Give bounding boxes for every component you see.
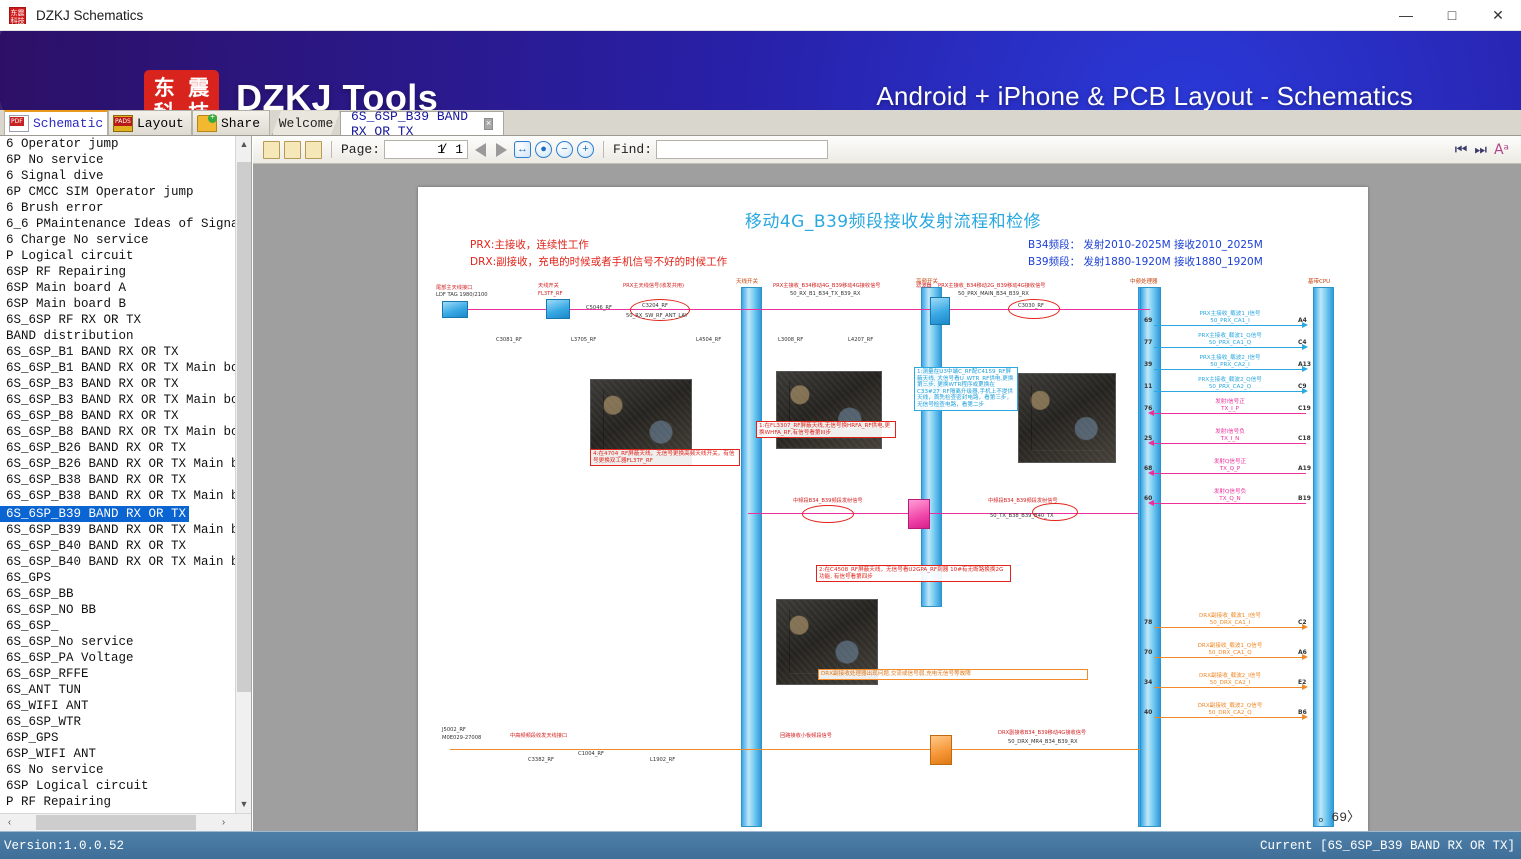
- bus-antenna-switch: [741, 287, 762, 827]
- board-photo-3: [1018, 373, 1116, 463]
- doc-tab-active-label: 6S_6SP_B39 BAND RX OR TX: [351, 109, 480, 139]
- scroll-right-icon[interactable]: ›: [215, 814, 232, 831]
- signal-net-name: TX_Q_N: [1154, 496, 1306, 502]
- comp-l4504: L4504_RF: [696, 337, 721, 343]
- sidebar-item[interactable]: 6S_ANT TUN: [0, 682, 236, 698]
- brand-name: DZKJ Tools: [236, 77, 438, 110]
- bus-label-antenna-switch: 天线开关: [736, 277, 758, 285]
- signal-line: [1154, 717, 1306, 718]
- scroll-down-icon[interactable]: ▼: [236, 796, 252, 812]
- signal-net-name: 50_DRX_CA2_Q: [1154, 710, 1306, 716]
- signal-pin-left: 70: [1144, 649, 1152, 656]
- dzkj-logo-icon: 东 震 科 技: [144, 70, 219, 110]
- signal-net-name: 50_DRX_CA2_I: [1154, 680, 1306, 686]
- signal-pin-left: 69: [1144, 317, 1152, 324]
- sidebar-item[interactable]: 6S_6SP_B8 BAND RX OR TX Main board: [0, 424, 236, 440]
- signal-line: [1154, 347, 1306, 348]
- comp-c3204: C3204_RF: [642, 303, 668, 309]
- comp-l3008: L3008_RF: [778, 337, 803, 343]
- title-bar: 东震科技 DZKJ Schematics — □ ✕: [0, 0, 1521, 31]
- signal-line: [1154, 473, 1306, 474]
- next-page-icon[interactable]: [496, 143, 507, 157]
- comp-c3081: C3081_RF: [496, 337, 522, 343]
- sidebar-item[interactable]: 6S_6SP_B8 BAND RX OR TX: [0, 408, 236, 424]
- bus-label-baseband: 基带CPU: [1308, 277, 1330, 285]
- flow-label-5: 滤波器: [916, 282, 932, 289]
- bus-label-wtr: 中频处理器: [1130, 277, 1158, 285]
- signal-pin-right: A19: [1298, 465, 1311, 472]
- scroll-left-icon[interactable]: ‹: [1, 814, 18, 831]
- signal-line: [1154, 391, 1306, 392]
- sidebar-vertical-scrollbar[interactable]: ▲ ▼: [235, 136, 251, 831]
- sidebar-item[interactable]: 6S_6SP_B26 BAND RX OR TX: [0, 440, 236, 456]
- signal-pin-right: C19: [1298, 405, 1311, 412]
- filter-chip: [930, 297, 950, 325]
- tab-layout[interactable]: Layout: [108, 110, 192, 135]
- comp-c3030: C3030_RF: [1018, 303, 1044, 309]
- sidebar-item[interactable]: 6S_6SP_PA Voltage: [0, 650, 236, 666]
- application-window: 东震科技 DZKJ Schematics — □ ✕ 东 震 科 技 DZKJ …: [0, 0, 1521, 859]
- logo-char-4: 技: [182, 101, 217, 110]
- prev-page-icon[interactable]: [475, 143, 486, 157]
- sidebar-item[interactable]: 6SP_GPS: [0, 730, 236, 746]
- bottom-label-3: DRX副接收B34_B39移动4G接收信号: [998, 729, 1086, 736]
- comp-c5046: C5046_RF: [586, 305, 612, 311]
- sidebar-item[interactable]: 6S_6SP_B38 BAND RX OR TX: [0, 472, 236, 488]
- signal-line: [1154, 627, 1306, 628]
- sheet-page-number: 。69〉: [1318, 806, 1360, 825]
- sidebar-item[interactable]: 6SP Main board A: [0, 280, 236, 296]
- zoom-in-icon[interactable]: +: [577, 141, 594, 158]
- signal-pin-right: A6: [1298, 649, 1307, 656]
- sidebar-item[interactable]: P Logical circuit: [0, 248, 236, 264]
- signal-description: PRX主接收_载波2_Q信号: [1154, 377, 1306, 383]
- signal-pin-left: 77: [1144, 339, 1152, 346]
- flow-label-2: PRX主天线信号(收发共用): [623, 282, 684, 289]
- signal-pin-right: A13: [1298, 361, 1311, 368]
- fit-width-icon[interactable]: ↔: [514, 141, 531, 158]
- sidebar-item[interactable]: 6S_6SP_WTR: [0, 714, 236, 730]
- bus-baseband: [1313, 287, 1334, 827]
- sidebar-scroll-thumb[interactable]: [237, 162, 251, 692]
- sidebar-item[interactable]: 6S_6SP_B40 BAND RX OR TX: [0, 538, 236, 554]
- extract-page-icon[interactable]: [284, 141, 301, 159]
- page-total-value: / 1: [440, 141, 463, 158]
- canvas-area[interactable]: 移动4G_B39频段接收发射流程和检修 PRX:主接收，连续性工作 DRX:副接…: [253, 164, 1521, 831]
- comp-l1902: L1902_RF: [650, 757, 675, 763]
- sidebar-item[interactable]: 6S_6SP_B3 BAND RX OR TX: [0, 376, 236, 392]
- schematic-list[interactable]: 6 Operator jump6P No service6 Signal div…: [0, 136, 236, 810]
- sidebar-item[interactable]: 6S_6SP_B26 BAND RX OR TX Main board: [0, 456, 236, 472]
- sidebar-item[interactable]: 6S_WIFI ANT: [0, 698, 236, 714]
- antenna-connector: [442, 301, 468, 318]
- signal-pin-left: 11: [1144, 383, 1152, 390]
- flow-label-0: 尾部主天线接口: [436, 284, 472, 291]
- brand-banner: 东 震 科 技 DZKJ Tools Android + iPhone & PC…: [0, 31, 1521, 110]
- signal-pin-right: A4: [1298, 317, 1307, 324]
- note-prx: PRX:主接收，连续性工作: [470, 237, 589, 252]
- signal-pin-right: C9: [1298, 383, 1307, 390]
- sidebar-item[interactable]: 6P CMCC SIM Operator jump: [0, 184, 236, 200]
- toolbar-divider-2: [603, 141, 604, 158]
- find-label: Find:: [613, 142, 652, 157]
- ellipse-tx-2: [1032, 503, 1078, 521]
- signal-line: [1154, 503, 1306, 504]
- sidebar-item[interactable]: 6P No service: [0, 152, 236, 168]
- sidebar-item[interactable]: 6SP RF Repairing: [0, 264, 236, 280]
- doc-tab-active[interactable]: 6S_6SP_B39 BAND RX OR TX ×: [340, 111, 504, 135]
- sidebar-item[interactable]: P RF Repairing: [0, 794, 236, 810]
- share-folder-icon: [197, 115, 217, 132]
- minimize-button[interactable]: —: [1383, 0, 1429, 31]
- find-input[interactable]: [656, 140, 828, 159]
- signal-line: [1154, 657, 1306, 658]
- maximize-button[interactable]: □: [1429, 0, 1475, 31]
- banner-tagline: Android + iPhone & PCB Layout - Schemati…: [876, 81, 1413, 110]
- signal-line: [1154, 687, 1306, 688]
- doc-tab-welcome[interactable]: Welcome: [272, 111, 340, 135]
- find-actions: ⏮ ⏭ Aᵃ: [1455, 142, 1521, 158]
- window-controls: — □ ✕: [1383, 0, 1521, 31]
- flow-label-4: PRX主接收_B34移动4G_B39移动4G接收信号: [773, 282, 881, 289]
- tab-bar: Schematic Layout Share Welcome 6S_6SP_B3…: [0, 110, 1521, 136]
- signal-pin-right: C4: [1298, 339, 1307, 346]
- signal-description: 发射I信号正: [1154, 399, 1306, 405]
- annotation-box-blue: 1:测量在U3中端C_RF配C4159_RF屏蔽天线, 大信号看U_WTR_RF…: [914, 367, 1018, 411]
- sidebar-horizontal-scrollbar[interactable]: ‹ ›: [0, 813, 252, 831]
- flow-sub-4: 50_RX_B1_B34_TX_B39_RX: [790, 291, 860, 297]
- signal-line: [1154, 443, 1306, 444]
- ellipse-tx: [802, 505, 854, 523]
- insert-page-icon[interactable]: [305, 141, 322, 159]
- doc-tab-welcome-label: Welcome: [279, 116, 334, 131]
- sidebar-item[interactable]: 6SP Main board B: [0, 296, 236, 312]
- sidebar-item[interactable]: 6 Signal dive: [0, 168, 236, 184]
- page-label: Page:: [341, 142, 380, 157]
- tab-layout-label: Layout: [137, 116, 184, 131]
- comp-l4207: L4207_RF: [848, 337, 873, 343]
- signal-net-name: TX_I_P: [1154, 406, 1306, 412]
- tab-share[interactable]: Share: [192, 110, 270, 135]
- bottom-sub-3: 50_DRX_MR4_B34_B39_RX: [1008, 739, 1078, 745]
- signal-pin-left: 40: [1144, 709, 1152, 716]
- toolbar-divider-1: [331, 141, 332, 158]
- flow-label-1: 天线开关: [538, 282, 559, 289]
- signal-line: [1154, 369, 1306, 370]
- signal-pin-left: 68: [1144, 465, 1152, 472]
- signal-description: PRX主接收_载波1_Q信号: [1154, 333, 1306, 339]
- signal-description: DRX副接收_载波2_Q信号: [1154, 703, 1306, 709]
- comp-l3705: L3705_RF: [571, 337, 596, 343]
- signal-description: PRX主接收_载波1_I信号: [1154, 311, 1306, 317]
- status-current-document: Current [6S_6SP_B39 BAND RX OR TX]: [1260, 839, 1515, 853]
- document-viewer: Page: 1 / 1 ↔ ● − + Find: ⏮ ⏭ Aᵃ 移动4: [253, 136, 1521, 831]
- sidebar-item[interactable]: 6S_6SP_B3 BAND RX OR TX Main board: [0, 392, 236, 408]
- find-prev-icon[interactable]: ⏮: [1455, 142, 1468, 158]
- signal-description: DRX副接收_载波1_Q信号: [1154, 643, 1306, 649]
- comp-c3382: C3382_RF: [528, 757, 554, 763]
- zoom-out-icon[interactable]: −: [556, 141, 573, 158]
- tab-schematic-label: Schematic: [33, 116, 103, 131]
- flow-sub-0: LDF TAG 1980/2100: [436, 292, 488, 298]
- signal-pin-right: E2: [1298, 679, 1306, 686]
- pads-icon: [113, 115, 133, 132]
- sidebar-item[interactable]: 6S_6SP_B39 BAND RX OR TX Main board: [0, 522, 236, 538]
- signal-description: 发射Q信号正: [1154, 459, 1306, 465]
- signal-pin-left: 60: [1144, 495, 1152, 502]
- signal-net-name: 50_PRX_CA2_I: [1154, 362, 1306, 368]
- bottom-label-1: 中高频频段收发天线接口: [510, 732, 567, 739]
- schematic-list-sidebar[interactable]: 6 Operator jump6P No service6 Signal div…: [0, 136, 252, 831]
- note-b34: B34频段： 发射2010-2025M 接收2010_2025M: [1028, 237, 1263, 252]
- logo-char-3: 科: [147, 101, 182, 110]
- sidebar-item[interactable]: 6SP_WIFI ANT: [0, 746, 236, 762]
- signal-pin-left: 78: [1144, 619, 1152, 626]
- signal-description: DRX副接收_载波1_I信号: [1154, 613, 1306, 619]
- signal-pin-left: 39: [1144, 361, 1152, 368]
- bottom-sub-0: M0E029-27008: [442, 735, 481, 741]
- signal-net-name: 50_PRX_CA1_Q: [1154, 340, 1306, 346]
- sidebar-item[interactable]: 6S_6SP_B1 BAND RX OR TX: [0, 344, 236, 360]
- note-b39: B39频段： 发射1880-1920M 接收1880_1920M: [1028, 254, 1263, 269]
- signal-pin-right: B6: [1298, 709, 1307, 716]
- find-next-icon[interactable]: ⏭: [1474, 142, 1487, 158]
- sidebar-item[interactable]: 6S_6SP_RFFE: [0, 666, 236, 682]
- sidebar-item[interactable]: 6SP Logical circuit: [0, 778, 236, 794]
- logo-char-1: 东: [147, 76, 182, 101]
- close-icon[interactable]: ×: [484, 118, 493, 130]
- sidebar-item[interactable]: 6S_6SP_B38 BAND RX OR TX Main board: [0, 488, 236, 504]
- viewer-toolbar: Page: 1 / 1 ↔ ● − + Find: ⏮ ⏭ Aᵃ: [253, 136, 1521, 164]
- sidebar-item[interactable]: 6 Charge No service: [0, 232, 236, 248]
- signal-description: 发射I信号负: [1154, 429, 1306, 435]
- signal-pin-left: 34: [1144, 679, 1152, 686]
- signal-net-name: 50_DRX_CA1_Q: [1154, 650, 1306, 656]
- scroll-up-icon[interactable]: ▲: [236, 136, 252, 152]
- ellipse-prx-filter: [1008, 299, 1060, 319]
- signal-line: [1154, 325, 1306, 326]
- sidebar-item[interactable]: 6S_6SP_No service: [0, 634, 236, 650]
- pdf-icon: [9, 115, 29, 132]
- window-title: DZKJ Schematics: [36, 8, 143, 23]
- schematic-page[interactable]: 移动4G_B39频段接收发射流程和检修 PRX:主接收，连续性工作 DRX:副接…: [418, 187, 1368, 831]
- page-number-input[interactable]: 1 / 1: [384, 140, 468, 159]
- flow-label-6: PRX主接收_B34移动2G_B39移动4G接收信号: [938, 282, 1046, 289]
- sidebar-item[interactable]: 6S_6SP_B1 BAND RX OR TX Main board: [0, 360, 236, 376]
- sidebar-hscroll-thumb[interactable]: [36, 815, 196, 830]
- signal-pin-right: B19: [1298, 495, 1311, 502]
- flow-sub-6: 50_PRX_MAIN_B34_B39_RX: [958, 291, 1029, 297]
- sidebar-item[interactable]: 6S_6SP RF RX OR TX: [0, 312, 236, 328]
- bus-hf-switch: [921, 287, 942, 607]
- sidebar-item[interactable]: 6S_6SP_B39 BAND RX OR TX: [0, 506, 189, 522]
- bus-wtr: [1140, 287, 1161, 827]
- mid-label-0: 中频段B34_B39频段发射信号: [793, 497, 863, 504]
- status-bar: Version:1.0.0.52 Current [6S_6SP_B39 BAN…: [0, 831, 1521, 859]
- drx-module-chip: [930, 735, 952, 765]
- sidebar-item[interactable]: 6S No service: [0, 762, 236, 778]
- antenna-switch-chip: [546, 299, 570, 319]
- tab-share-label: Share: [221, 116, 260, 131]
- signal-pin-left: 76: [1144, 405, 1152, 412]
- app-logo-icon: 东震科技: [9, 7, 26, 24]
- annotation-box-4: 4:在4704_RF屏蔽天线，无信号更换高频天线开关，有信号更换双工器FL3TF…: [590, 449, 740, 466]
- sidebar-item[interactable]: BAND distribution: [0, 328, 236, 344]
- wire-drx-main: [450, 749, 1140, 750]
- sidebar-item[interactable]: 6S_GPS: [0, 570, 236, 586]
- bottom-label-2: 回路接收小板频段信号: [780, 732, 832, 739]
- signal-description: PRX主接收_载波2_I信号: [1154, 355, 1306, 361]
- tx-module-chip: [908, 499, 930, 529]
- status-version: Version:1.0.0.52: [4, 839, 124, 853]
- signal-line: [1154, 413, 1306, 414]
- schematic-title: 移动4G_B39频段接收发射流程和检修: [418, 207, 1368, 232]
- signal-net-name: TX_Q_P: [1154, 466, 1306, 472]
- annotation-box-1: 1:在FL3307_RF屏蔽天线,无信号换HRFA_RF供电,更换WHFA_RF…: [756, 421, 896, 438]
- sidebar-item[interactable]: 6S_6SP_B40 BAND RX OR TX Main board: [0, 554, 236, 570]
- signal-pin-right: C2: [1298, 619, 1307, 626]
- sidebar-item[interactable]: 6S_6SP_: [0, 618, 236, 634]
- signal-description: 发射Q信号负: [1154, 489, 1306, 495]
- note-drx: DRX:副接收，充电的时候或者手机信号不好的时候工作: [470, 254, 727, 269]
- sidebar-item[interactable]: 6_6 PMaintenance Ideas of Signal Divir: [0, 216, 236, 232]
- sidebar-item[interactable]: 6S_6SP_NO BB: [0, 602, 236, 618]
- signal-pin-left: 25: [1144, 435, 1152, 442]
- comp-c1004: C1004_RF: [578, 751, 604, 757]
- sidebar-item[interactable]: 6 Operator jump: [0, 136, 236, 152]
- close-button[interactable]: ✕: [1475, 0, 1521, 31]
- flow-sub-1: FL3TF_RF: [538, 291, 563, 297]
- logo-char-2: 震: [182, 76, 217, 101]
- signal-net-name: TX_I_N: [1154, 436, 1306, 442]
- find-case-icon[interactable]: Aᵃ: [1494, 142, 1509, 158]
- schematic-content: 移动4G_B39频段接收发射流程和检修 PRX:主接收，连续性工作 DRX:副接…: [418, 187, 1368, 831]
- signal-net-name: 50_PRX_CA2_Q: [1154, 384, 1306, 390]
- annotation-box-drx: DRX副接收处理器出现问题,交流或信号弱,充电无信号等故障: [818, 669, 1088, 680]
- bottom-label-0: J5002_RF: [442, 727, 466, 733]
- signal-net-name: 50_DRX_CA1_I: [1154, 620, 1306, 626]
- signal-pin-right: C18: [1298, 435, 1311, 442]
- copy-page-icon[interactable]: [263, 141, 280, 159]
- sidebar-item[interactable]: 6S_6SP_BB: [0, 586, 236, 602]
- fit-page-icon[interactable]: ●: [535, 141, 552, 158]
- sidebar-item[interactable]: 6 Brush error: [0, 200, 236, 216]
- signal-description: DRX副接收_载波2_I信号: [1154, 673, 1306, 679]
- flow-sub-2: 50_RX_SW_RF_ANT_LAY: [626, 313, 688, 319]
- tab-schematic[interactable]: Schematic: [4, 110, 108, 135]
- annotation-box-2: 2:在C4508_RF屏蔽天线，无信号看U2GPA_RF到器 10#有无断路换换…: [816, 565, 1011, 582]
- signal-net-name: 50_PRX_CA1_I: [1154, 318, 1306, 324]
